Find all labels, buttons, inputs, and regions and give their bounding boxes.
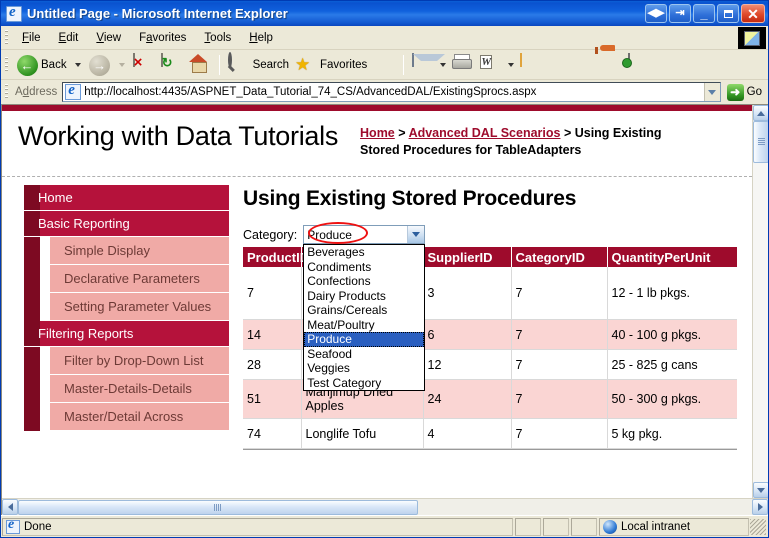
grid-col-categoryid[interactable]: CategoryID [511,247,607,267]
edit-chevron-icon[interactable] [508,63,514,67]
note-icon [520,54,542,76]
sidebar-item-home-label: Home [38,190,73,205]
address-grip[interactable] [5,84,8,100]
sidebar-item-basic-reporting[interactable]: Basic Reporting [24,211,229,237]
main-content: Using Existing Stored Procedures Categor… [229,177,752,450]
cell-categoryid: 7 [511,419,607,449]
maximize-icon [718,5,738,22]
sidebar-item-simple-display-label: Simple Display [64,243,150,258]
scroll-left-button[interactable] [2,499,18,515]
encoding-button[interactable] [653,52,681,78]
dropdown-option-dairy-products[interactable]: Dairy Products [304,289,424,304]
forward-history-chevron-icon[interactable] [119,63,125,67]
page-document: Working with Data Tutorials Home > Advan… [2,105,752,498]
back-arrow-icon: ← [16,54,38,76]
sidebar-item-master-detail-across-label: Master/Detail Across [64,409,183,424]
cell-supplierid: 3 [423,267,511,320]
cell-categoryid: 7 [511,320,607,350]
notes-button[interactable] [517,52,545,78]
sidebar-item-filter-by-drop-down-list[interactable]: Filter by Drop-Down List [50,347,229,375]
category-filter-label: Category: [243,228,297,242]
research-button[interactable] [625,52,653,78]
sidebar-item-master-details-details[interactable]: Master-Details-Details [50,375,229,403]
cell-categoryid: 7 [511,380,607,419]
back-history-chevron-icon[interactable] [75,63,81,67]
status-cell-1 [515,518,541,536]
dropdown-option-test-category[interactable]: Test Category [304,376,424,391]
sidebar-nav: Home Basic Reporting Simple Display Decl… [24,185,229,431]
home-button[interactable] [186,52,214,78]
ie-page-icon [6,6,22,22]
maximize-button[interactable] [717,4,739,23]
cell-quantityperunit: 12 - 1 lb pkgs. [607,267,737,320]
restore-pane-button[interactable]: ◀▶ [645,4,667,23]
menu-help-label: elp [258,32,273,44]
close-button[interactable]: ✕ [741,4,765,23]
address-url-text: http://localhost:4435/ASPNET_Data_Tutori… [84,86,703,98]
stop-button[interactable] [130,52,158,78]
media-button[interactable] [370,52,398,78]
category-dropdown-list[interactable]: Beverages Condiments Confections Dairy P… [303,244,425,391]
sidebar-item-master-detail-across[interactable]: Master/Detail Across [50,403,229,431]
scroll-thumb-horizontal[interactable] [18,500,418,515]
address-page-icon [65,84,81,100]
breadcrumb-home-link[interactable]: Home [360,126,395,140]
category-filter-row: Category: Produce Beverages Condiments C… [243,225,738,244]
address-bar: Address http://localhost:4435/ASPNET_Dat… [1,80,768,105]
sidebar-item-declarative-parameters[interactable]: Declarative Parameters [50,265,229,293]
title-bar: Untitled Page - Microsoft Internet Explo… [1,1,768,26]
sidebar-item-setting-parameter-values-label: Setting Parameter Values [64,299,211,314]
cell-categoryid: 7 [511,350,607,380]
dropdown-option-seafood[interactable]: Seafood [304,347,424,362]
grid-col-productid[interactable]: ProductID [243,247,301,267]
category-select[interactable]: Produce [303,225,425,244]
forward-arrow-icon: → [89,54,111,76]
sidebar-item-home[interactable]: Home [24,185,229,211]
navigation-toolbar: ← Back → Search ★ Favorites W [1,50,768,80]
dropdown-option-meat-poultry[interactable]: Meat/Poultry [304,318,424,333]
page-viewport: Working with Data Tutorials Home > Advan… [1,105,768,515]
messenger-globe-button[interactable] [569,52,597,78]
browser-window: Untitled Page - Microsoft Internet Explo… [0,0,769,538]
search-button-label: Search [253,59,289,71]
menu-file[interactable]: File [13,29,50,47]
cell-supplierid: 12 [423,350,511,380]
dropdown-option-produce[interactable]: Produce [304,332,424,347]
toolbar-separator-2 [403,55,404,75]
menu-bar: File Edit View Favorites Tools Help [1,26,768,50]
print-button[interactable] [449,52,477,78]
menu-tools[interactable]: Tools [195,29,240,47]
page-horizontal-scrollbar[interactable] [2,498,768,515]
sidebar-item-simple-display[interactable]: Simple Display [50,237,229,265]
mail-button[interactable] [409,52,437,78]
home-icon [189,54,211,76]
sidebar-item-filtering-reports[interactable]: Filtering Reports [24,321,229,347]
blue-globe-icon [572,54,594,76]
category-select-chevron-down-icon[interactable] [407,226,424,243]
minimize-button[interactable]: _ [693,4,715,23]
go-button-label: Go [747,86,762,98]
mail-icon [412,54,434,76]
high-heel-icon [600,54,622,76]
table-row[interactable]: 74 Longlife Tofu 4 7 5 kg pkg. [243,419,737,449]
cell-productname: Longlife Tofu [301,419,423,449]
address-dropdown-button[interactable] [704,83,720,101]
cell-productid: 74 [243,419,301,449]
window-title: Untitled Page - Microsoft Internet Explo… [27,6,643,21]
sidebar-item-master-details-details-label: Master-Details-Details [64,381,192,396]
cell-categoryid: 7 [511,267,607,320]
cell-supplierid: 6 [423,320,511,350]
menu-file-label: ile [29,32,41,44]
media-globe-icon [373,54,395,76]
sidebar-item-declarative-parameters-label: Declarative Parameters [64,271,200,286]
menu-edit-label: dit [66,32,78,44]
globe-icon [603,520,617,534]
minimize-icon: _ [694,5,714,22]
ie-brand-logo [738,27,766,49]
scroll-up-button[interactable] [753,105,768,121]
search-button[interactable]: Search [225,52,292,78]
grid-col-supplierid[interactable]: SupplierID [423,247,511,267]
shopping-button[interactable] [597,52,625,78]
back-button-label: Back [41,59,67,71]
research-book-icon [628,54,650,76]
dropdown-option-grains-cereals[interactable]: Grains/Cereals [304,303,424,318]
category-select-wrapper: Produce Beverages Condiments Confections… [303,225,425,244]
site-header: Working with Data Tutorials Home > Advan… [2,105,752,177]
address-input[interactable]: http://localhost:4435/ASPNET_Data_Tutori… [62,82,720,102]
menu-favorites[interactable]: Favorites [130,29,195,47]
page-body: Home Basic Reporting Simple Display Decl… [2,177,752,450]
menu-favorites-label: vorites [153,32,187,44]
menu-tools-label: ools [210,32,231,44]
grid-bottom-border [243,449,737,450]
qr-pattern-icon [656,54,678,76]
sidebar-item-setting-parameter-values[interactable]: Setting Parameter Values [50,293,229,321]
site-title: Working with Data Tutorials [18,121,338,152]
status-bar: Done Local intranet [1,515,768,537]
grid-col-quantityperunit[interactable]: QuantityPerUnit [607,247,737,267]
cell-quantityperunit: 50 - 300 g pkgs. [607,380,737,419]
cell-productid: 51 [243,380,301,419]
tab-list-button[interactable]: ⇥ [669,4,691,23]
cell-quantityperunit: 40 - 100 g pkgs. [607,320,737,350]
menu-edit[interactable]: Edit [50,29,88,47]
cell-productid: 14 [243,320,301,350]
refresh-button[interactable] [158,52,186,78]
breadcrumb: Home > Advanced DAL Scenarios > Using Ex… [360,119,690,159]
star-icon: ★ [295,54,317,76]
status-message-cell: Done [2,518,513,536]
cell-quantityperunit: 25 - 825 g cans [607,350,737,380]
forward-button[interactable]: → [86,52,114,78]
sidebar-item-filter-by-drop-down-list-label: Filter by Drop-Down List [64,353,203,368]
scroll-track-vertical[interactable] [753,163,768,482]
status-message: Done [24,521,52,533]
page-vertical-scrollbar[interactable] [752,105,768,498]
toolbar-separator-3 [550,55,564,75]
cell-supplierid: 24 [423,380,511,419]
scroll-right-button[interactable] [752,499,768,515]
go-arrow-icon: ➜ [727,84,744,101]
cell-productid: 28 [243,350,301,380]
close-icon: ✕ [742,5,764,22]
dropdown-option-veggies[interactable]: Veggies [304,361,424,376]
security-zone-label: Local intranet [621,521,690,533]
dropdown-option-condiments[interactable]: Condiments [304,260,424,275]
cell-quantityperunit: 5 kg pkg. [607,419,737,449]
refresh-icon [161,54,183,76]
search-icon [228,54,250,76]
sidebar-item-filtering-reports-label: Filtering Reports [38,326,133,341]
menu-view[interactable]: View [87,29,130,47]
category-select-value: Produce [307,228,407,242]
printer-icon [452,54,474,76]
menu-view-label: iew [104,32,121,44]
security-zone-cell: Local intranet [599,518,749,536]
stop-icon [133,54,155,76]
address-label: Address [13,86,62,98]
toolbar-grip[interactable] [5,57,8,73]
scroll-down-button[interactable] [753,482,768,498]
page-title: Using Existing Stored Procedures [243,187,738,211]
menu-help[interactable]: Help [240,29,282,47]
back-button[interactable]: ← Back [13,52,70,78]
status-page-icon [6,520,20,534]
favorites-button[interactable]: ★ Favorites [292,52,370,78]
status-cell-3 [571,518,597,536]
tab-list-icon: ⇥ [670,5,690,22]
sidebar-item-basic-reporting-label: Basic Reporting [38,216,130,231]
dropdown-option-beverages[interactable]: Beverages [304,245,424,260]
scroll-thumb-vertical[interactable] [753,121,768,163]
breadcrumb-separator-1: > [395,126,409,140]
word-document-icon: W [480,54,502,76]
status-cell-2 [543,518,569,536]
favorites-button-label: Favorites [320,59,367,71]
resize-grip[interactable] [750,519,766,535]
breadcrumb-separator-2: > [560,126,574,140]
dropdown-option-confections[interactable]: Confections [304,274,424,289]
go-button[interactable]: ➜ Go [721,84,766,101]
breadcrumb-section-link[interactable]: Advanced DAL Scenarios [409,126,561,140]
restore-pane-icon: ◀▶ [646,5,666,22]
cell-productid: 7 [243,267,301,320]
cell-supplierid: 4 [423,419,511,449]
chevron-down-icon [708,90,716,95]
edit-word-button[interactable]: W [477,52,505,78]
toolbar-separator [219,55,220,75]
menu-grip[interactable] [5,30,8,46]
